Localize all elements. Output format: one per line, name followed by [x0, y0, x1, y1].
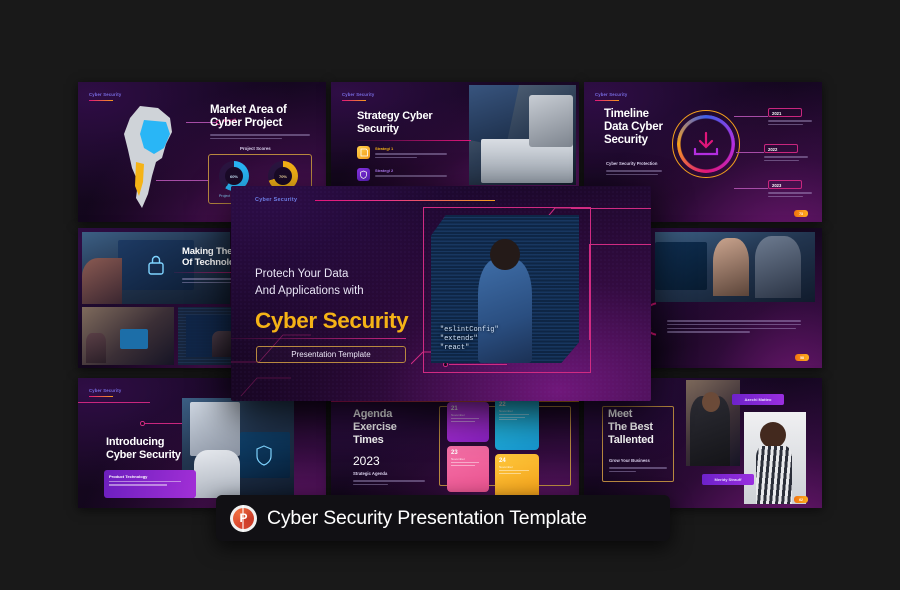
showcase-canvas: Cyber Security Brazil Market Area of Cyb… — [0, 0, 900, 590]
tag-underline — [89, 100, 113, 101]
timeline-year-label-3: 2023 — [769, 181, 801, 188]
agenda-year: 2023 — [353, 454, 380, 468]
slide-badge: 73 — [794, 210, 808, 217]
slide-caption — [667, 320, 801, 335]
tag-underline — [342, 100, 366, 101]
timeline-year-label-1: 2021 — [769, 109, 801, 116]
agenda-card-2[interactable]: 22 November — [495, 398, 539, 450]
slide-strategy[interactable]: Cyber Security Strategy Cyber Security S… — [331, 82, 579, 188]
hero-code-line-2: "extends" — [440, 335, 478, 343]
agenda-card-number-3: 23 — [447, 446, 489, 456]
title-banner: P Cyber Security Presentation Template — [216, 495, 670, 541]
tag-underline — [595, 100, 619, 101]
donut-value-1: 60% — [225, 167, 243, 185]
team-text-frame — [602, 406, 674, 482]
timeline-year-3[interactable]: 2023 — [768, 180, 802, 189]
hero-photo-head — [490, 239, 520, 270]
strategy-caption-1 — [375, 153, 447, 161]
south-america-map — [110, 102, 188, 214]
deco-node — [140, 421, 145, 426]
agenda-card-month-2: November — [495, 408, 539, 413]
title-accent-line — [357, 140, 471, 141]
strategy-caption-2 — [375, 175, 447, 179]
slide-title-line1: Agenda — [353, 408, 392, 421]
slide-title-line2: Cyber Security — [106, 449, 181, 462]
hero-slide[interactable]: Cyber Security "eslintConfig" "extends" — [231, 186, 651, 401]
strategy-icon-2 — [357, 168, 370, 181]
hero-code-line-1: "eslintConfig" — [440, 326, 499, 334]
photo-two-devs — [655, 232, 815, 302]
slide-title-line1: Market Area of — [210, 104, 287, 118]
photo-tech-lab — [182, 398, 294, 498]
timeline-year-1[interactable]: 2021 — [768, 108, 802, 117]
agenda-caption — [353, 480, 425, 488]
slide-title-line1: Strategy Cyber — [357, 110, 432, 123]
slide-title-line3: Security — [604, 134, 648, 148]
slide-title-line1: Making The — [182, 246, 232, 257]
timeline-connector-1 — [734, 116, 768, 117]
powerpoint-icon: P — [230, 505, 257, 532]
slide-title-line3: Times — [353, 434, 384, 447]
powerpoint-icon-letter: P — [239, 512, 247, 524]
photo-member-2 — [744, 412, 806, 504]
timeline-year-2[interactable]: 2022 — [764, 144, 798, 153]
agenda-card-number-4: 24 — [495, 454, 539, 464]
timeline-year-label-2: 2022 — [765, 145, 797, 152]
donut-label-1: Project — [219, 194, 230, 198]
timeline-subhead: Cyber Security Protection — [606, 161, 657, 166]
agenda-card-month-1: November — [447, 412, 489, 417]
tag-underline — [89, 396, 113, 397]
agenda-card-month-4: November — [495, 464, 539, 469]
agenda-subhead: Strategic Agenda — [353, 471, 387, 476]
hero-tag-line — [315, 200, 495, 201]
donut-value-2: 70% — [274, 167, 292, 185]
strategy-label-1: Strategi 1 — [375, 146, 393, 151]
hero-subtitle-line2: And Applications with — [255, 285, 364, 297]
slide-tag: Cyber Security — [89, 388, 121, 393]
slide-title-line1: Introducing — [106, 436, 164, 449]
photo-member-1 — [686, 380, 740, 466]
hero-photo-code: "eslintConfig" "extends" "react" — [440, 326, 573, 352]
timeline-year-caption-2 — [764, 156, 808, 164]
team-member-name-1[interactable]: Azechi Matteo — [732, 394, 784, 405]
strategy-icon-1 — [357, 146, 370, 159]
hero-code-line-3: "react" — [440, 344, 469, 352]
product-technology-box[interactable]: Product Technology — [104, 470, 196, 498]
section-label: Project Scores — [240, 146, 271, 151]
hero-divider — [231, 338, 406, 339]
slide-team-photo-text[interactable]: 58 — [645, 228, 822, 368]
timeline-connector-2 — [736, 152, 764, 153]
slide-title-line2: Security — [357, 123, 399, 136]
slide-title-line2: Cyber Project — [210, 117, 282, 131]
slide-tag: Cyber Security — [595, 92, 627, 97]
slide-tag: Cyber Security — [342, 92, 374, 97]
hero-deco-corner-left-icon — [231, 334, 311, 396]
agenda-card-1[interactable]: 21 November — [447, 402, 489, 442]
presentation-template-label: Presentation Template — [291, 350, 370, 359]
slide-title-line1: Timeline — [604, 108, 649, 122]
timeline-connector-3 — [734, 188, 768, 189]
slide-badge: 58 — [795, 354, 809, 361]
timeline-year-caption-3 — [768, 192, 812, 200]
timeline-year-caption-1 — [768, 120, 812, 128]
banner-title: Cyber Security Presentation Template — [267, 507, 587, 530]
slide-caption — [210, 134, 310, 142]
strategy-label-2: Strategi 2 — [375, 168, 393, 173]
agenda-card-number-1: 21 — [447, 402, 489, 412]
product-technology-label: Product Technology — [104, 470, 196, 479]
hero-subtitle: Protech Your Data And Applications with — [255, 266, 364, 299]
timeline-caption — [606, 170, 662, 178]
hero-headline: Cyber Security — [255, 308, 408, 334]
map-connector-line-2 — [156, 180, 208, 181]
slide-title-line2: Data Cyber — [604, 121, 663, 135]
slide-title-line2: Exercise — [353, 421, 397, 434]
team-member-name-2[interactable]: Meridy Strauff — [702, 474, 754, 485]
hero-subtitle-line1: Protech Your Data — [255, 268, 348, 280]
agenda-card-3[interactable]: 23 November — [447, 446, 489, 492]
hero-deco-line-right — [589, 244, 651, 245]
agenda-card-month-3: November — [447, 456, 489, 461]
download-icon — [691, 129, 721, 159]
hero-tag: Cyber Security — [255, 197, 297, 203]
slide-badge: 62 — [794, 496, 808, 503]
slide-photo — [469, 85, 576, 185]
deco-line-1 — [78, 402, 150, 403]
slide-agenda[interactable]: Agenda Exercise Times 2023 Strategic Age… — [331, 392, 579, 508]
slide-tag: Cyber Security — [89, 92, 121, 97]
presentation-template-button[interactable]: Presentation Template — [256, 346, 406, 363]
hero-photo: "eslintConfig" "extends" "react" — [431, 215, 579, 363]
photo-office — [82, 307, 174, 365]
